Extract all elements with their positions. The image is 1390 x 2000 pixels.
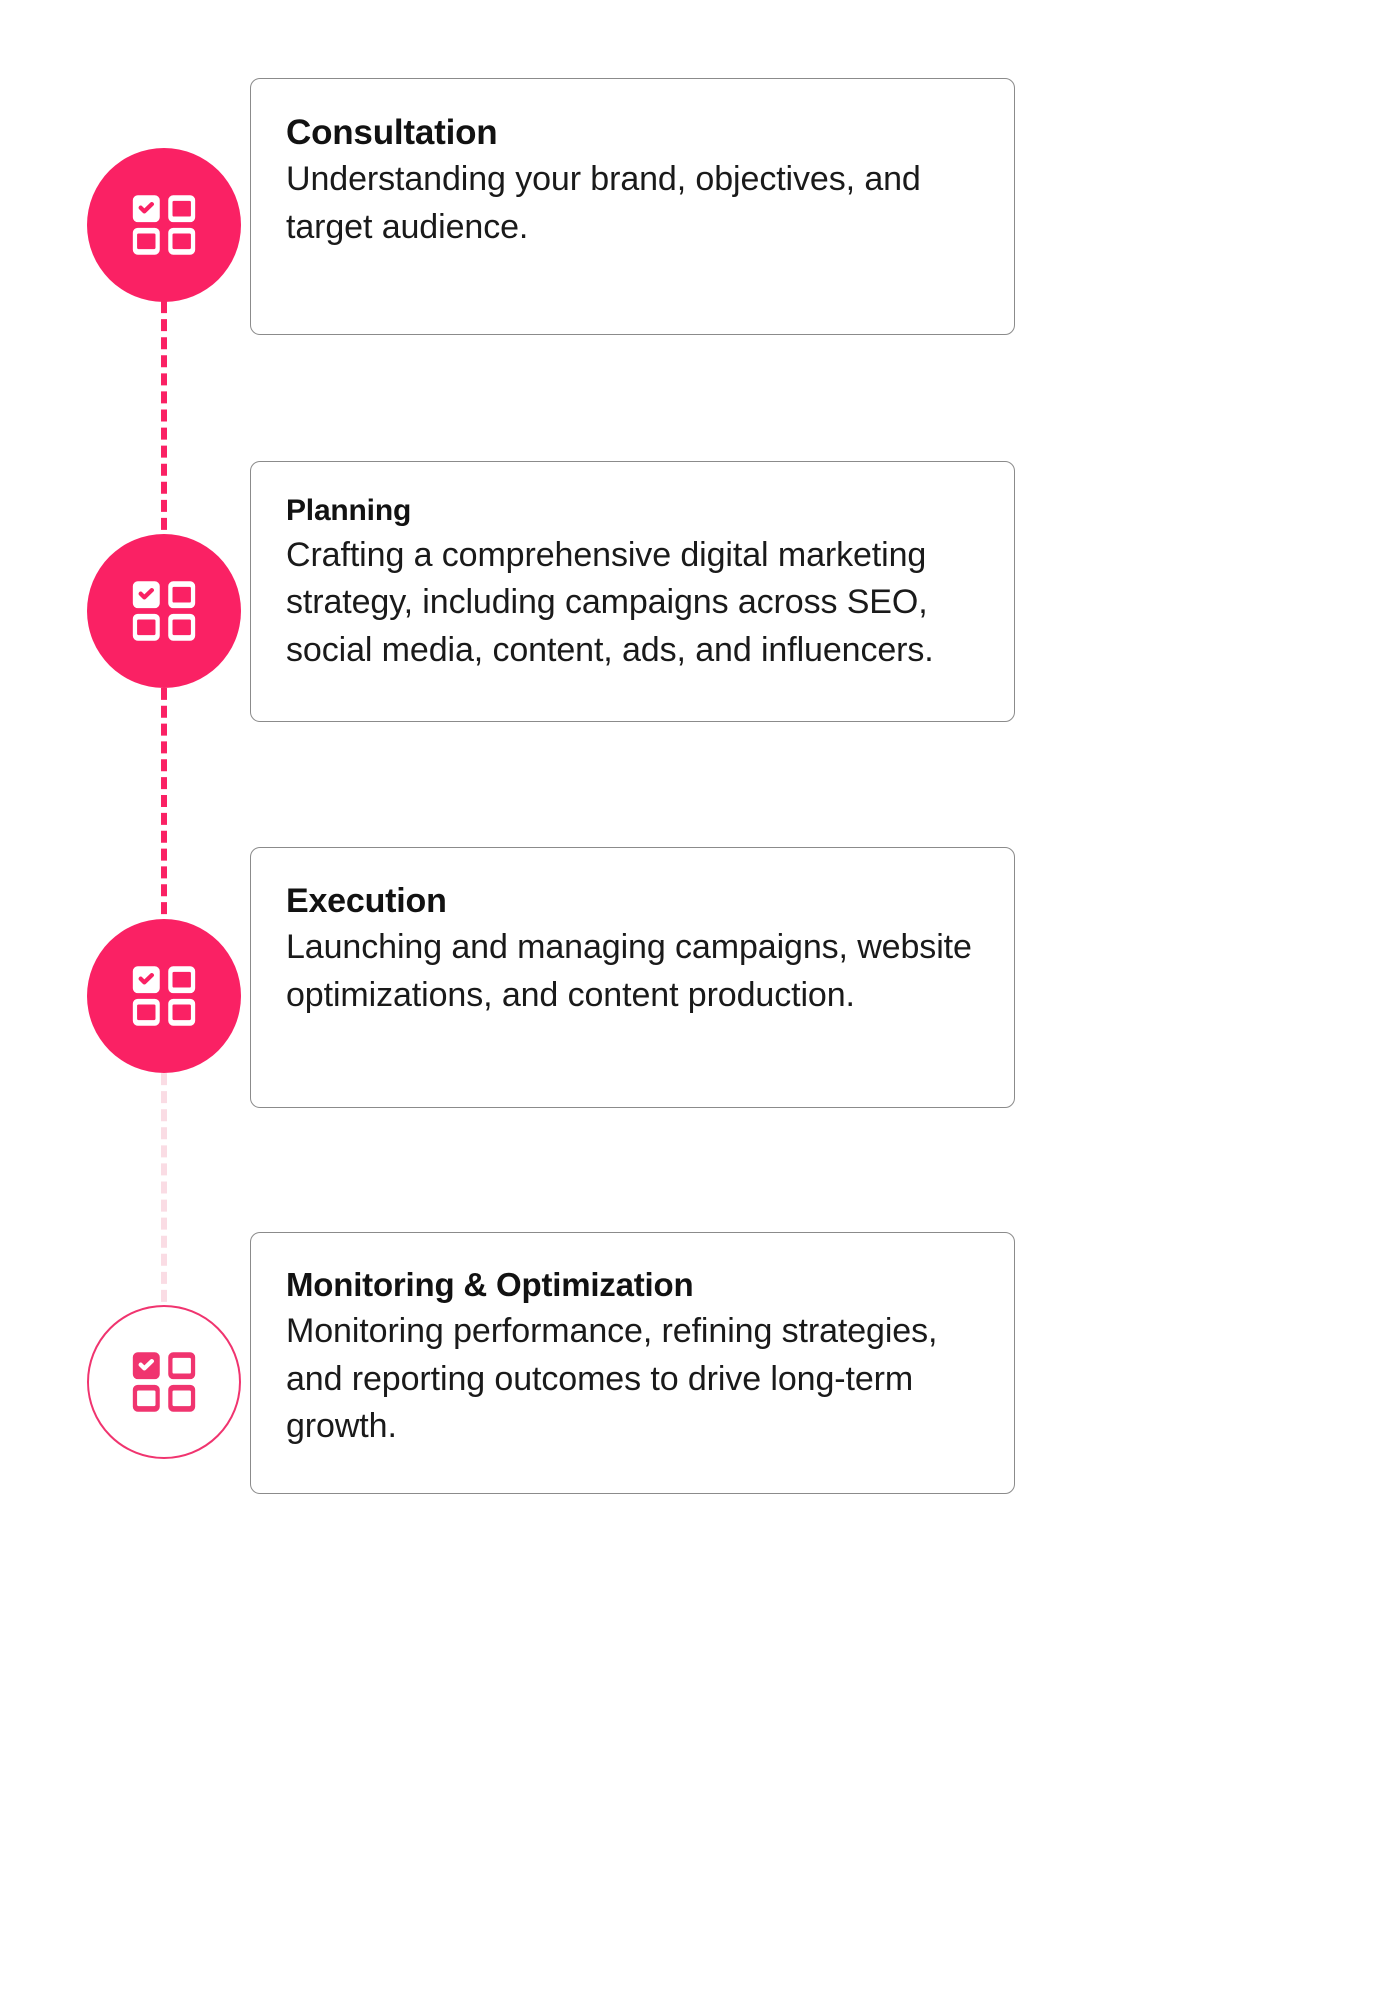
- step-title: Planning: [286, 494, 978, 528]
- timeline-connector-2: [161, 670, 167, 932]
- timeline-node-planning[interactable]: [87, 534, 241, 688]
- timeline-node-consultation[interactable]: [87, 148, 241, 302]
- timeline-connector-3: [161, 1055, 167, 1320]
- timeline-rail: [0, 0, 250, 2000]
- timeline-step-card[interactable]: Planning Crafting a comprehensive digita…: [250, 461, 1015, 722]
- step-description: Understanding your brand, objectives, an…: [286, 156, 978, 251]
- step-description: Crafting a comprehensive digital marketi…: [286, 532, 978, 675]
- timeline-connector-1: [161, 283, 167, 548]
- timeline-node-execution[interactable]: [87, 919, 241, 1073]
- timeline-step-card[interactable]: Consultation Understanding your brand, o…: [250, 78, 1015, 335]
- grid-check-icon: [130, 577, 198, 645]
- grid-check-icon: [130, 191, 198, 259]
- grid-check-icon: [130, 1348, 198, 1416]
- grid-check-icon: [130, 962, 198, 1030]
- process-timeline-diagram: Consultation Understanding your brand, o…: [0, 0, 1390, 2000]
- step-description: Launching and managing campaigns, websit…: [286, 924, 978, 1019]
- step-description: Monitoring performance, refining strateg…: [286, 1308, 978, 1451]
- step-title: Monitoring & Optimization: [286, 1267, 978, 1304]
- timeline-step-card[interactable]: Execution Launching and managing campaig…: [250, 847, 1015, 1108]
- step-title: Execution: [286, 882, 978, 920]
- timeline-node-monitoring-optimization[interactable]: [87, 1305, 241, 1459]
- step-title: Consultation: [286, 113, 978, 152]
- timeline-step-card[interactable]: Monitoring & Optimization Monitoring per…: [250, 1232, 1015, 1494]
